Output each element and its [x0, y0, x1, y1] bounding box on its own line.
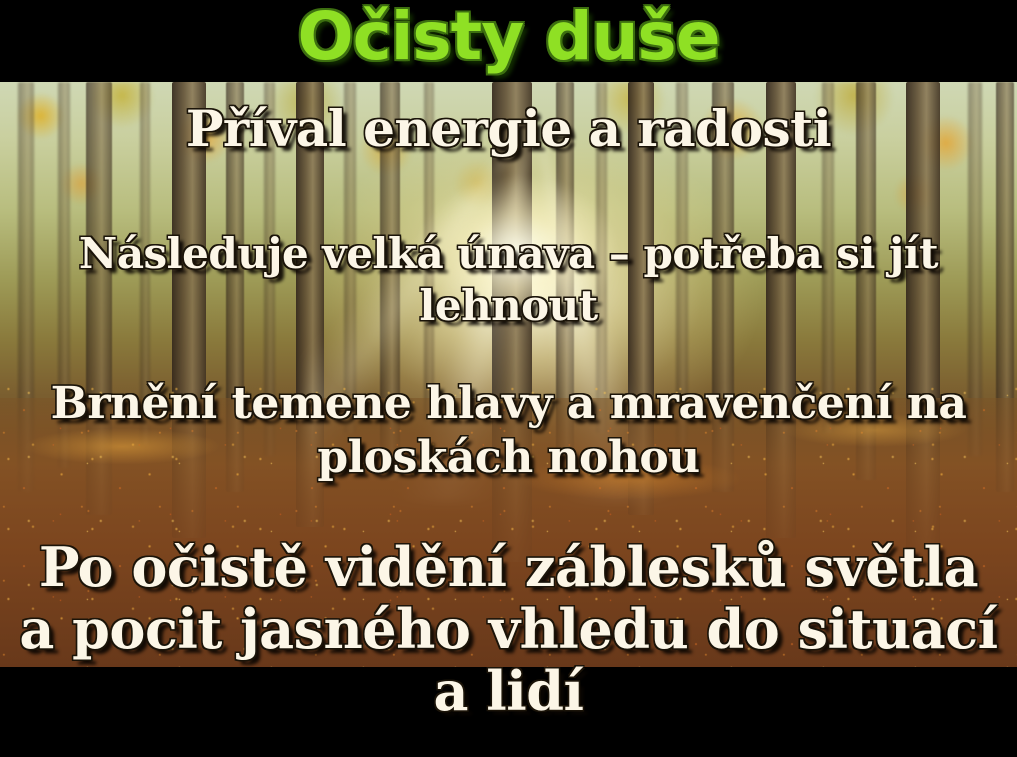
title-band: Očisty duše: [0, 0, 1017, 82]
page-title: Očisty duše: [0, 0, 1017, 78]
presentation-slide: Očisty duše: [0, 0, 1017, 757]
paragraph-4-line-3: a lidí: [0, 660, 1017, 722]
fallen-leaves-layer: [0, 375, 1017, 668]
sun-glow: [417, 176, 617, 326]
background-photo: [0, 82, 1017, 667]
